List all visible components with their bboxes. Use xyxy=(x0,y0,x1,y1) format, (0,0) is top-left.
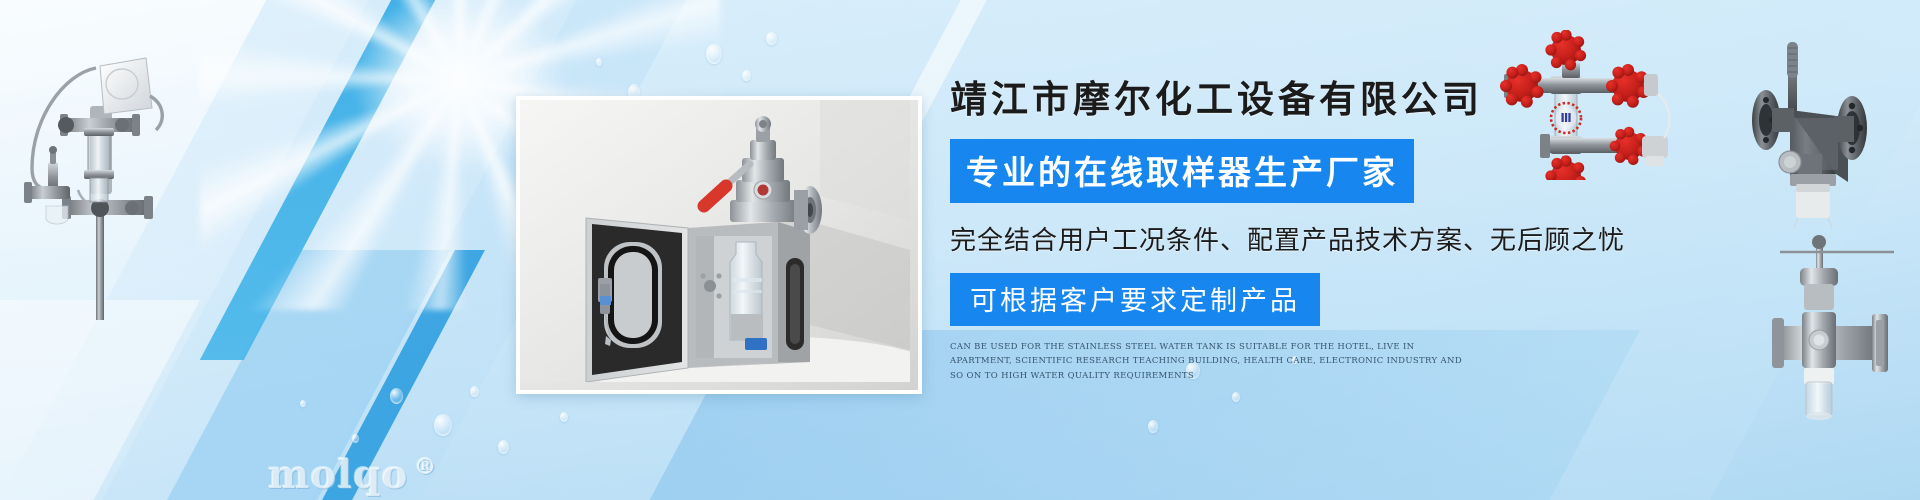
registered-trademark-icon: ® xyxy=(414,454,437,480)
center-product-photo xyxy=(516,96,922,394)
water-droplet xyxy=(560,412,568,422)
subtitle-text: 完全结合用户工况条件、配置产品技术方案、无后顾之忧 xyxy=(950,220,1710,257)
water-droplet xyxy=(434,414,452,436)
water-droplet xyxy=(498,440,509,454)
water-droplet xyxy=(596,58,602,66)
secondary-headline: 可根据客户要求定制产品 xyxy=(950,273,1320,326)
water-droplet xyxy=(1148,420,1158,433)
diagonal-stripe-white-lower xyxy=(0,300,200,500)
right-bottom-product-image xyxy=(1772,222,1920,422)
company-name: 靖江市摩尔化工设备有限公司 xyxy=(950,78,1710,121)
water-droplet xyxy=(352,434,359,443)
water-droplet xyxy=(470,386,479,397)
water-droplet xyxy=(390,388,403,404)
water-droplet xyxy=(742,70,751,81)
water-droplet xyxy=(766,32,777,45)
water-droplet xyxy=(300,400,306,407)
promotional-banner: Ⅲ xyxy=(0,0,1920,500)
water-droplet xyxy=(1232,392,1240,402)
diagonal-stripe-blue-upper xyxy=(200,0,499,360)
banner-text-block: 靖江市摩尔化工设备有限公司 专业的在线取样器生产厂家 完全结合用户工况条件、配置… xyxy=(950,78,1710,384)
english-description: CAN BE USED FOR THE STAINLESS STEEL WATE… xyxy=(950,340,1462,385)
left-product-image xyxy=(4,22,194,322)
right-upper-product-image xyxy=(1686,22,1916,230)
brand-watermark: molqo® xyxy=(268,452,437,498)
watermark-brand: molqo xyxy=(268,452,408,498)
water-droplet xyxy=(706,44,722,64)
primary-headline: 专业的在线取样器生产厂家 xyxy=(950,139,1414,203)
